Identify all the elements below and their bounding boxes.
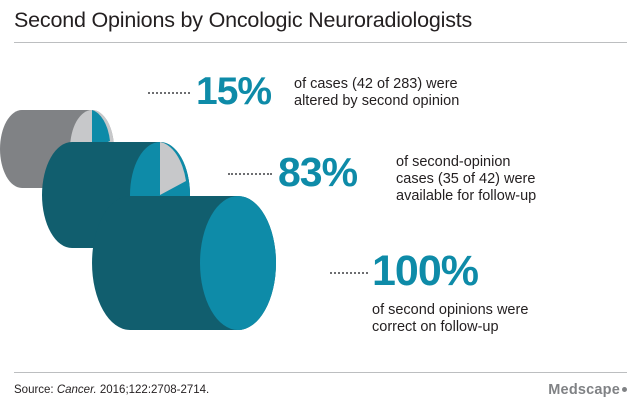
funnel-stage-3 <box>92 196 276 330</box>
leader-line-2 <box>228 173 272 175</box>
stage-2-description: of second-opinion cases (35 of 42) were … <box>396 154 636 205</box>
stage-1-description-line-2: altered by second opinion <box>294 93 459 109</box>
stage-3-description-line-2: correct on follow-up <box>372 319 499 335</box>
source-prefix: Source: <box>14 384 57 396</box>
stage-3-description-line-1: of second opinions were <box>372 302 528 318</box>
stage-2-description-line-1: of second-opinion <box>396 154 510 170</box>
source-volume: 2016;122:2708-2714. <box>97 384 210 396</box>
leader-line-1 <box>148 92 190 94</box>
stage-2-description-line-3: available for follow-up <box>396 188 536 204</box>
leader-line-3 <box>330 272 368 274</box>
source-citation: Source: Cancer. 2016;122:2708-2714. <box>14 384 209 396</box>
stage-2-percent: 83% <box>278 152 357 193</box>
stage-3-description: of second opinions were correct on follo… <box>372 302 632 336</box>
infographic-canvas: Second Opinions by Oncologic Neuroradiol… <box>0 0 641 414</box>
source-journal: Cancer. <box>57 384 97 396</box>
stage-2-description-line-2: cases (35 of 42) were <box>396 171 535 187</box>
brand-logo-text: Medscape <box>548 382 620 398</box>
stage-3-front-face <box>200 196 276 330</box>
stage-1-description: of cases (42 of 283) were altered by sec… <box>294 76 594 110</box>
stage-3-percent: 100% <box>372 250 478 293</box>
brand-logo: Medscape <box>548 382 627 398</box>
page-title: Second Opinions by Oncologic Neuroradiol… <box>14 8 629 33</box>
stage-1-percent: 15% <box>196 72 271 111</box>
title-divider <box>14 42 627 43</box>
brand-logo-dot <box>622 387 627 392</box>
stage-1-description-line-1: of cases (42 of 283) were <box>294 76 458 92</box>
footer-divider <box>14 372 627 373</box>
